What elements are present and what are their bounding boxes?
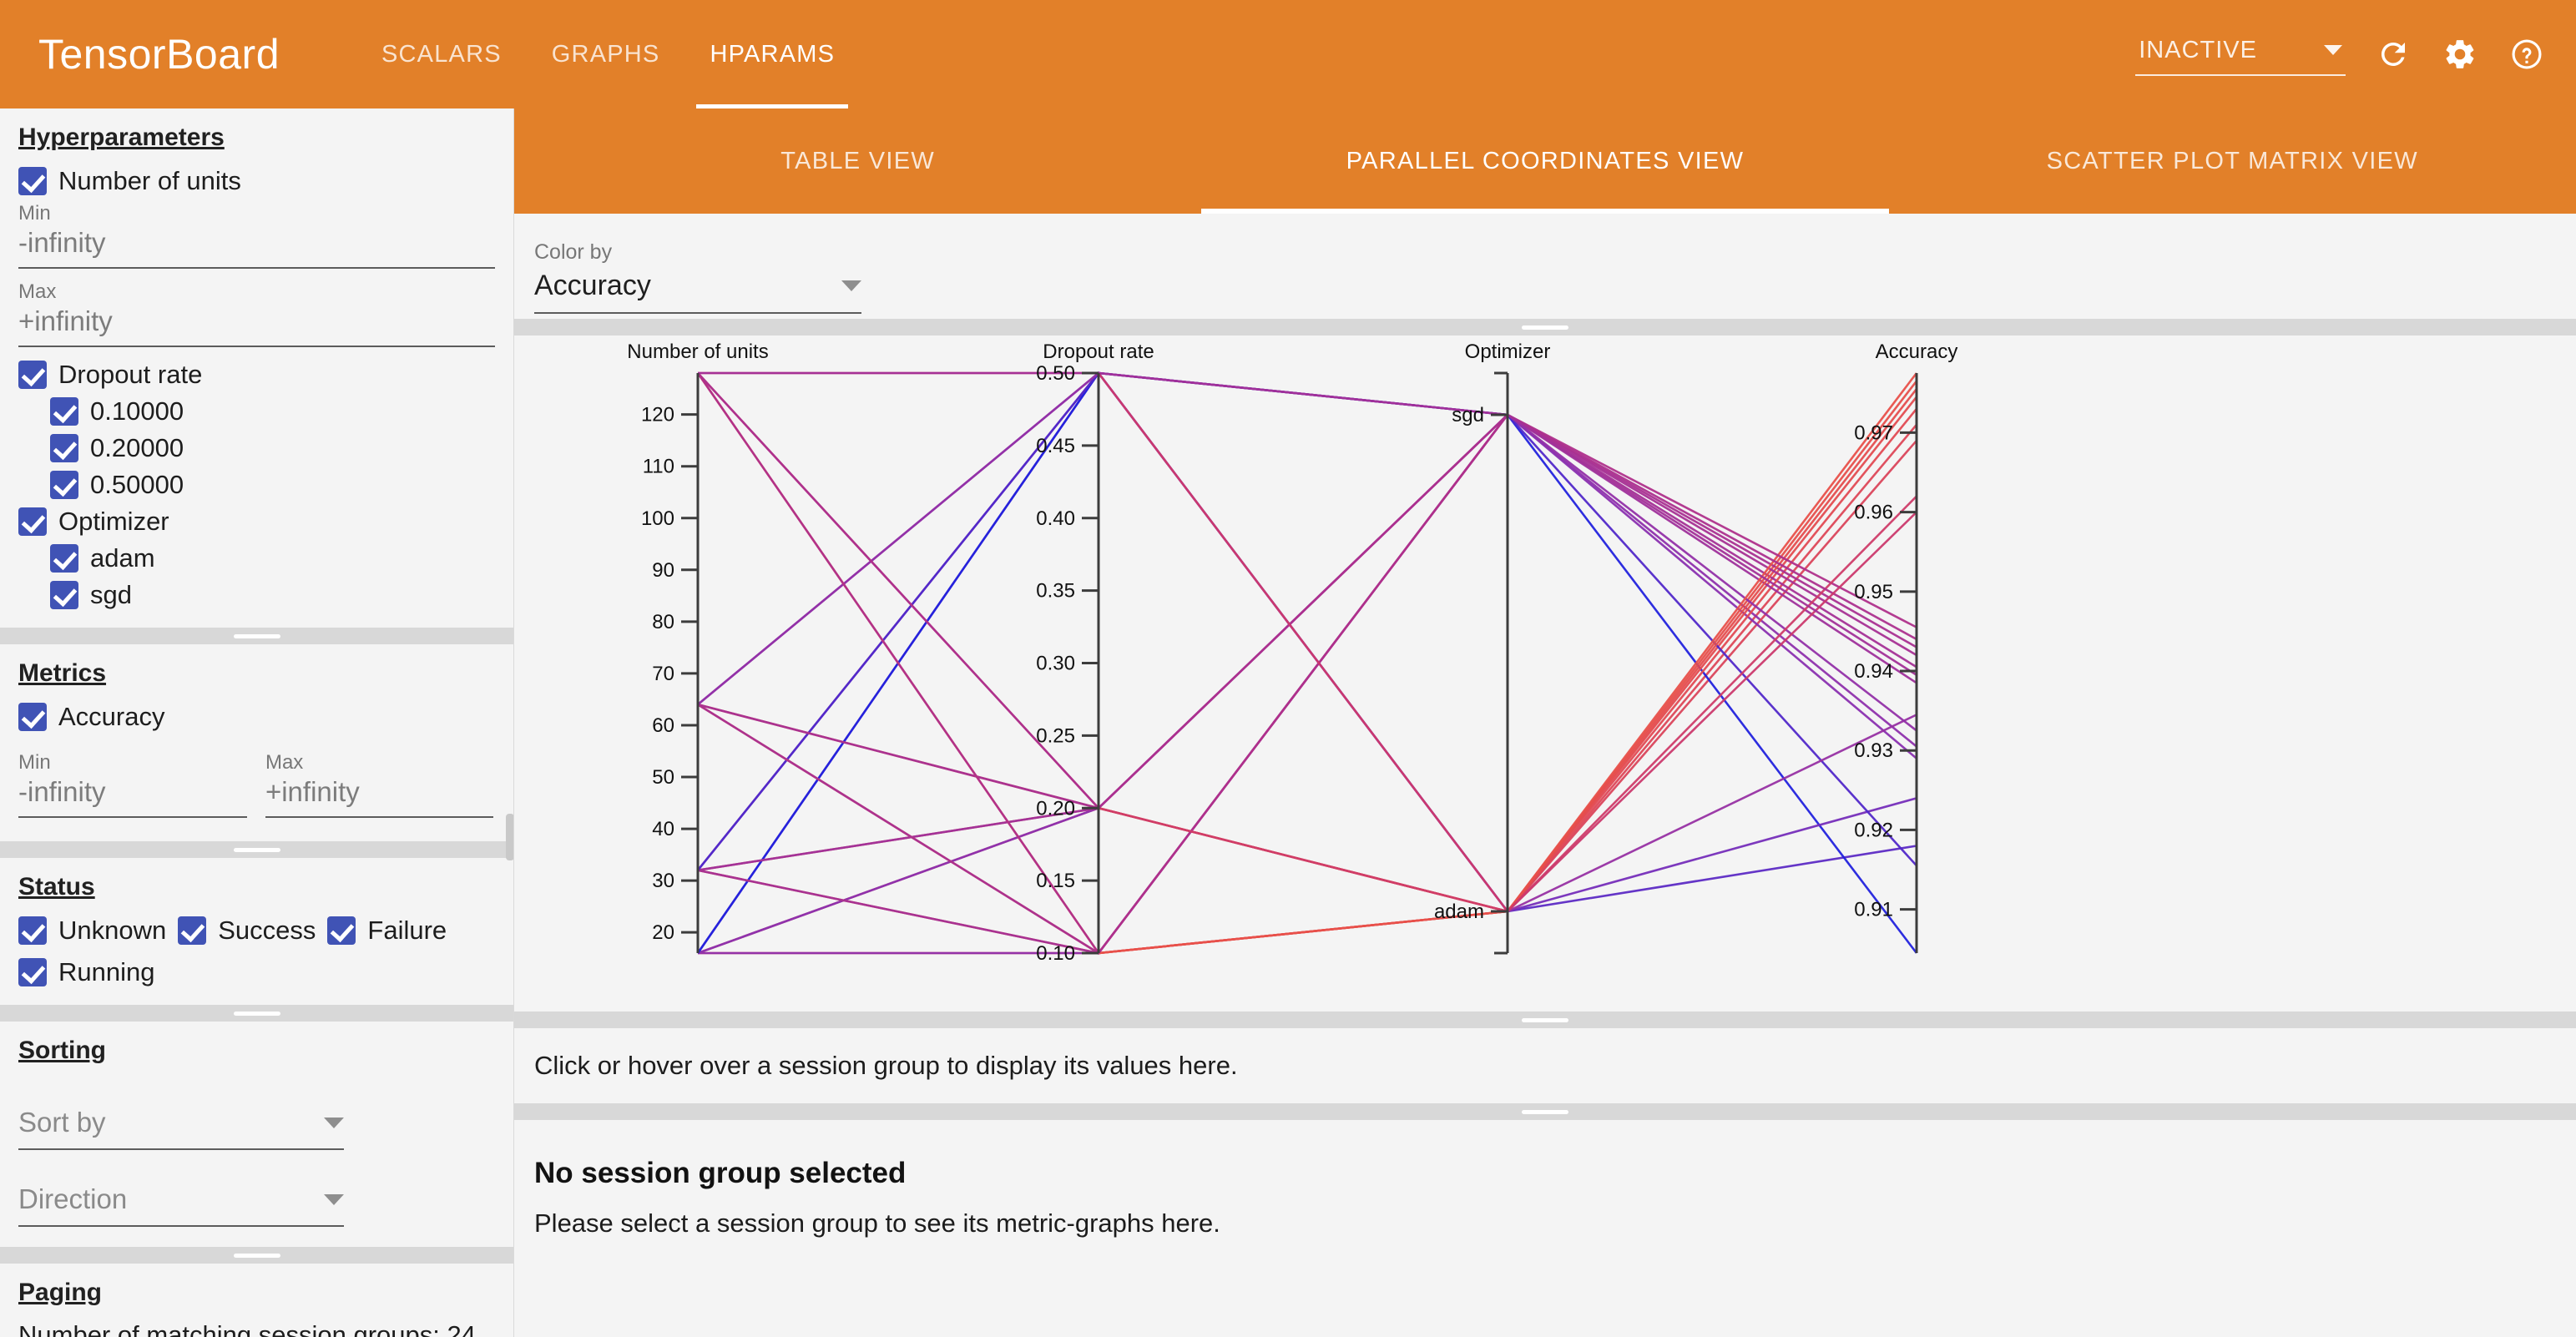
gear-icon[interactable]: [2441, 35, 2479, 73]
chevron-down-icon: [2324, 45, 2342, 55]
checkbox-number-of-units[interactable]: [18, 167, 47, 195]
hparam-label: Dropout rate: [58, 359, 202, 391]
chevron-down-icon: [324, 1118, 344, 1128]
section-divider[interactable]: [514, 1103, 2576, 1120]
session-group-line[interactable]: [698, 373, 1917, 675]
axis-tick-label: 120: [641, 404, 674, 426]
section-divider[interactable]: [0, 628, 513, 644]
axis-tick-label: 80: [652, 611, 674, 633]
hyperparameters-section: Hyperparameters Number of units Min -inf…: [0, 108, 513, 628]
axis-tick-label: 50: [652, 766, 674, 789]
axis-tick-label: 40: [652, 818, 674, 840]
status-running[interactable]: Running: [18, 956, 154, 988]
direction-value: Direction: [18, 1183, 127, 1215]
session-group-subtitle: Please select a session group to see its…: [534, 1208, 2576, 1239]
checkbox-status-success[interactable]: [178, 916, 206, 945]
metric-accuracy[interactable]: Accuracy: [18, 701, 495, 733]
axis-title: Accuracy: [1876, 341, 1958, 363]
status-failure[interactable]: Failure: [327, 915, 447, 946]
hover-hint-text: Click or hover over a session group to d…: [534, 1051, 1238, 1081]
dropout-value-item[interactable]: 0.10000: [50, 396, 495, 427]
sidebar-resize-handle[interactable]: [506, 814, 514, 860]
axis-title: Dropout rate: [1043, 341, 1154, 363]
hparam-label: Number of units: [58, 165, 241, 197]
axis-tick-label: 70: [652, 663, 674, 685]
paging-section: Paging Number of matching session groups…: [0, 1264, 513, 1337]
axis-tick-label: 0.15: [1036, 870, 1075, 892]
checkbox-metric-accuracy[interactable]: [18, 703, 47, 731]
view-tabs: TABLE VIEW PARALLEL COORDINATES VIEW SCA…: [514, 108, 2576, 214]
color-by-select[interactable]: Color by Accuracy: [534, 240, 861, 314]
metric-max-field[interactable]: Max +infinity: [265, 751, 494, 818]
num-units-min-label: Min: [18, 202, 495, 225]
session-group-line[interactable]: [698, 415, 1917, 953]
axis-tick-label: 20: [652, 921, 674, 944]
status-label: Unknown: [58, 915, 166, 946]
tab-table-view[interactable]: TABLE VIEW: [514, 108, 1201, 214]
section-divider[interactable]: [0, 1005, 513, 1022]
num-units-min-value[interactable]: -infinity: [18, 227, 495, 269]
session-group-line[interactable]: [698, 415, 1917, 808]
axis-tick-label: 0.25: [1036, 724, 1075, 747]
hparam-label: Optimizer: [58, 506, 169, 537]
status-unknown[interactable]: Unknown: [18, 915, 166, 946]
axis-tick-label: 0.93: [1854, 739, 1893, 762]
direction-select[interactable]: Direction: [18, 1183, 344, 1227]
status-section: Status Unknown Success Failure Running: [0, 858, 513, 1005]
dropout-value-item[interactable]: 0.20000: [50, 432, 495, 464]
axis-tick-label: 0.20: [1036, 797, 1075, 820]
axis-tick-label: 100: [641, 507, 674, 530]
axis-tick-label: 110: [643, 456, 674, 478]
metrics-section: Metrics Accuracy Min -infinity Max +infi…: [0, 644, 513, 841]
optimizer-value-item[interactable]: sgd: [50, 579, 495, 611]
section-divider[interactable]: [514, 319, 2576, 336]
checkbox-status-unknown[interactable]: [18, 916, 47, 945]
matching-session-groups-count: Number of matching session groups: 24: [18, 1320, 495, 1337]
paging-title: Paging: [18, 1279, 102, 1307]
session-group-panel: No session group selected Please select …: [514, 1120, 2576, 1337]
app-title: TensorBoard: [38, 30, 280, 78]
status-success[interactable]: Success: [178, 915, 316, 946]
checkbox-status-failure[interactable]: [327, 916, 356, 945]
tensorboard-app: TensorBoard SCALARS GRAPHS HPARAMS INACT…: [0, 0, 2576, 1337]
axis-tick-label: 0.30: [1036, 653, 1075, 675]
checkbox-optimizer-sgd[interactable]: [50, 581, 78, 609]
metrics-title: Metrics: [18, 659, 106, 688]
session-group-line[interactable]: [698, 415, 1917, 953]
section-divider[interactable]: [0, 841, 513, 858]
tab-scatter-plot-matrix-view[interactable]: SCATTER PLOT MATRIX VIEW: [1889, 108, 2576, 214]
parallel-coordinates-svg[interactable]: Number of units2030405060708090100110120…: [514, 336, 2576, 1003]
run-selector[interactable]: INACTIVE: [2135, 33, 2346, 76]
hparam-number-of-units[interactable]: Number of units: [18, 165, 495, 197]
session-group-title: No session group selected: [534, 1157, 2576, 1190]
hyperparameters-title: Hyperparameters: [18, 124, 225, 152]
metric-min-field[interactable]: Min -infinity: [18, 751, 247, 818]
tab-parallel-coordinates-view[interactable]: PARALLEL COORDINATES VIEW: [1201, 108, 1888, 214]
dropout-value-label: 0.20000: [90, 432, 184, 464]
status-label: Success: [218, 915, 316, 946]
color-by-container: Color by Accuracy: [514, 214, 2576, 319]
hparam-optimizer[interactable]: Optimizer: [18, 506, 495, 537]
axis-title: Number of units: [627, 341, 768, 363]
axis-tick-label: sgd: [1452, 404, 1484, 426]
checkbox-optimizer[interactable]: [18, 507, 47, 536]
axis-tick-label: 0.35: [1036, 580, 1075, 603]
session-group-line[interactable]: [698, 441, 1917, 953]
metric-min-value[interactable]: -infinity: [18, 776, 247, 818]
session-group-line[interactable]: [698, 381, 1917, 953]
optimizer-value-item[interactable]: adam: [50, 542, 495, 574]
optimizer-values: adam sgd: [50, 542, 495, 611]
color-by-value: Accuracy: [534, 270, 651, 302]
dropout-values: 0.10000 0.20000 0.50000: [50, 396, 495, 501]
sort-by-value: Sort by: [18, 1107, 106, 1138]
checkbox-dropout-rate[interactable]: [18, 361, 47, 389]
metric-min-label: Min: [18, 751, 247, 774]
session-group-line[interactable]: [698, 409, 1917, 911]
axis-tick-label: 0.10: [1036, 942, 1075, 965]
checkbox-dropout-0-2[interactable]: [50, 434, 78, 462]
parallel-coordinates-chart[interactable]: Number of units2030405060708090100110120…: [514, 336, 2576, 1012]
tab-graphs[interactable]: GRAPHS: [527, 0, 685, 108]
status-label: Failure: [367, 915, 447, 946]
axis-tick-label: 0.40: [1036, 507, 1075, 530]
session-values-panel: Click or hover over a session group to d…: [514, 1028, 2576, 1103]
axis-tick-label: 0.50: [1036, 362, 1075, 385]
axis-tick-label: adam: [1434, 901, 1484, 923]
app-body: Hyperparameters Number of units Min -inf…: [0, 108, 2576, 1337]
dropout-value-label: 0.50000: [90, 469, 184, 501]
num-units-max-field[interactable]: Max +infinity: [18, 280, 495, 347]
axis-tick-label: 0.92: [1854, 819, 1893, 841]
optimizer-value-label: adam: [90, 542, 155, 574]
num-units-max-label: Max: [18, 280, 495, 304]
num-units-max-value[interactable]: +infinity: [18, 305, 495, 347]
optimizer-value-label: sgd: [90, 579, 132, 611]
section-divider[interactable]: [514, 1012, 2576, 1028]
checkbox-status-running[interactable]: [18, 958, 47, 986]
axis-tick-label: 0.91: [1854, 899, 1893, 921]
refresh-icon[interactable]: [2374, 35, 2412, 73]
axis-tick-label: 0.96: [1854, 502, 1893, 524]
axis-title: Optimizer: [1465, 341, 1551, 363]
axis-tick-label: 0.45: [1036, 435, 1075, 457]
dropout-value-item[interactable]: 0.50000: [50, 469, 495, 501]
chevron-down-icon: [324, 1194, 344, 1205]
axis-tick-label: 60: [652, 714, 674, 737]
session-group-line[interactable]: [698, 415, 1917, 953]
hparams-main: TABLE VIEW PARALLEL COORDINATES VIEW SCA…: [514, 108, 2576, 1337]
top-bar-actions: INACTIVE: [2135, 0, 2546, 108]
checkbox-dropout-0-1[interactable]: [50, 397, 78, 426]
dropout-value-label: 0.10000: [90, 396, 184, 427]
metric-max-label: Max: [265, 751, 494, 774]
num-units-min-field[interactable]: Min -infinity: [18, 202, 495, 269]
axis-tick-label: 30: [652, 870, 674, 892]
tab-hparams[interactable]: HPARAMS: [684, 0, 860, 108]
section-divider[interactable]: [0, 1247, 513, 1264]
status-title: Status: [18, 873, 95, 901]
top-app-bar: TensorBoard SCALARS GRAPHS HPARAMS INACT…: [0, 0, 2576, 108]
session-group-line[interactable]: [698, 415, 1917, 953]
chevron-down-icon: [841, 280, 861, 291]
color-by-label: Color by: [534, 240, 861, 265]
checkbox-dropout-0-5[interactable]: [50, 471, 78, 499]
tab-scalars[interactable]: SCALARS: [356, 0, 527, 108]
metric-max-value[interactable]: +infinity: [265, 776, 494, 818]
sorting-title: Sorting: [18, 1037, 106, 1065]
checkbox-optimizer-adam[interactable]: [50, 544, 78, 573]
help-icon[interactable]: [2508, 35, 2546, 73]
hparam-dropout-rate[interactable]: Dropout rate: [18, 359, 495, 391]
hparams-sidebar: Hyperparameters Number of units Min -inf…: [0, 108, 514, 1337]
status-label: Running: [58, 956, 154, 988]
run-selector-value: INACTIVE: [2139, 37, 2257, 64]
sort-by-select[interactable]: Sort by: [18, 1107, 344, 1150]
sorting-section: Sorting Sort by Direction: [0, 1022, 513, 1247]
plugin-tabs: SCALARS GRAPHS HPARAMS: [356, 0, 860, 108]
metric-label: Accuracy: [58, 701, 164, 733]
axis-tick-label: 0.97: [1854, 421, 1893, 444]
session-group-line[interactable]: [698, 397, 1917, 953]
axis-tick-label: 0.94: [1854, 660, 1893, 683]
axis-tick-label: 0.95: [1854, 581, 1893, 603]
axis-tick-label: 90: [652, 559, 674, 582]
